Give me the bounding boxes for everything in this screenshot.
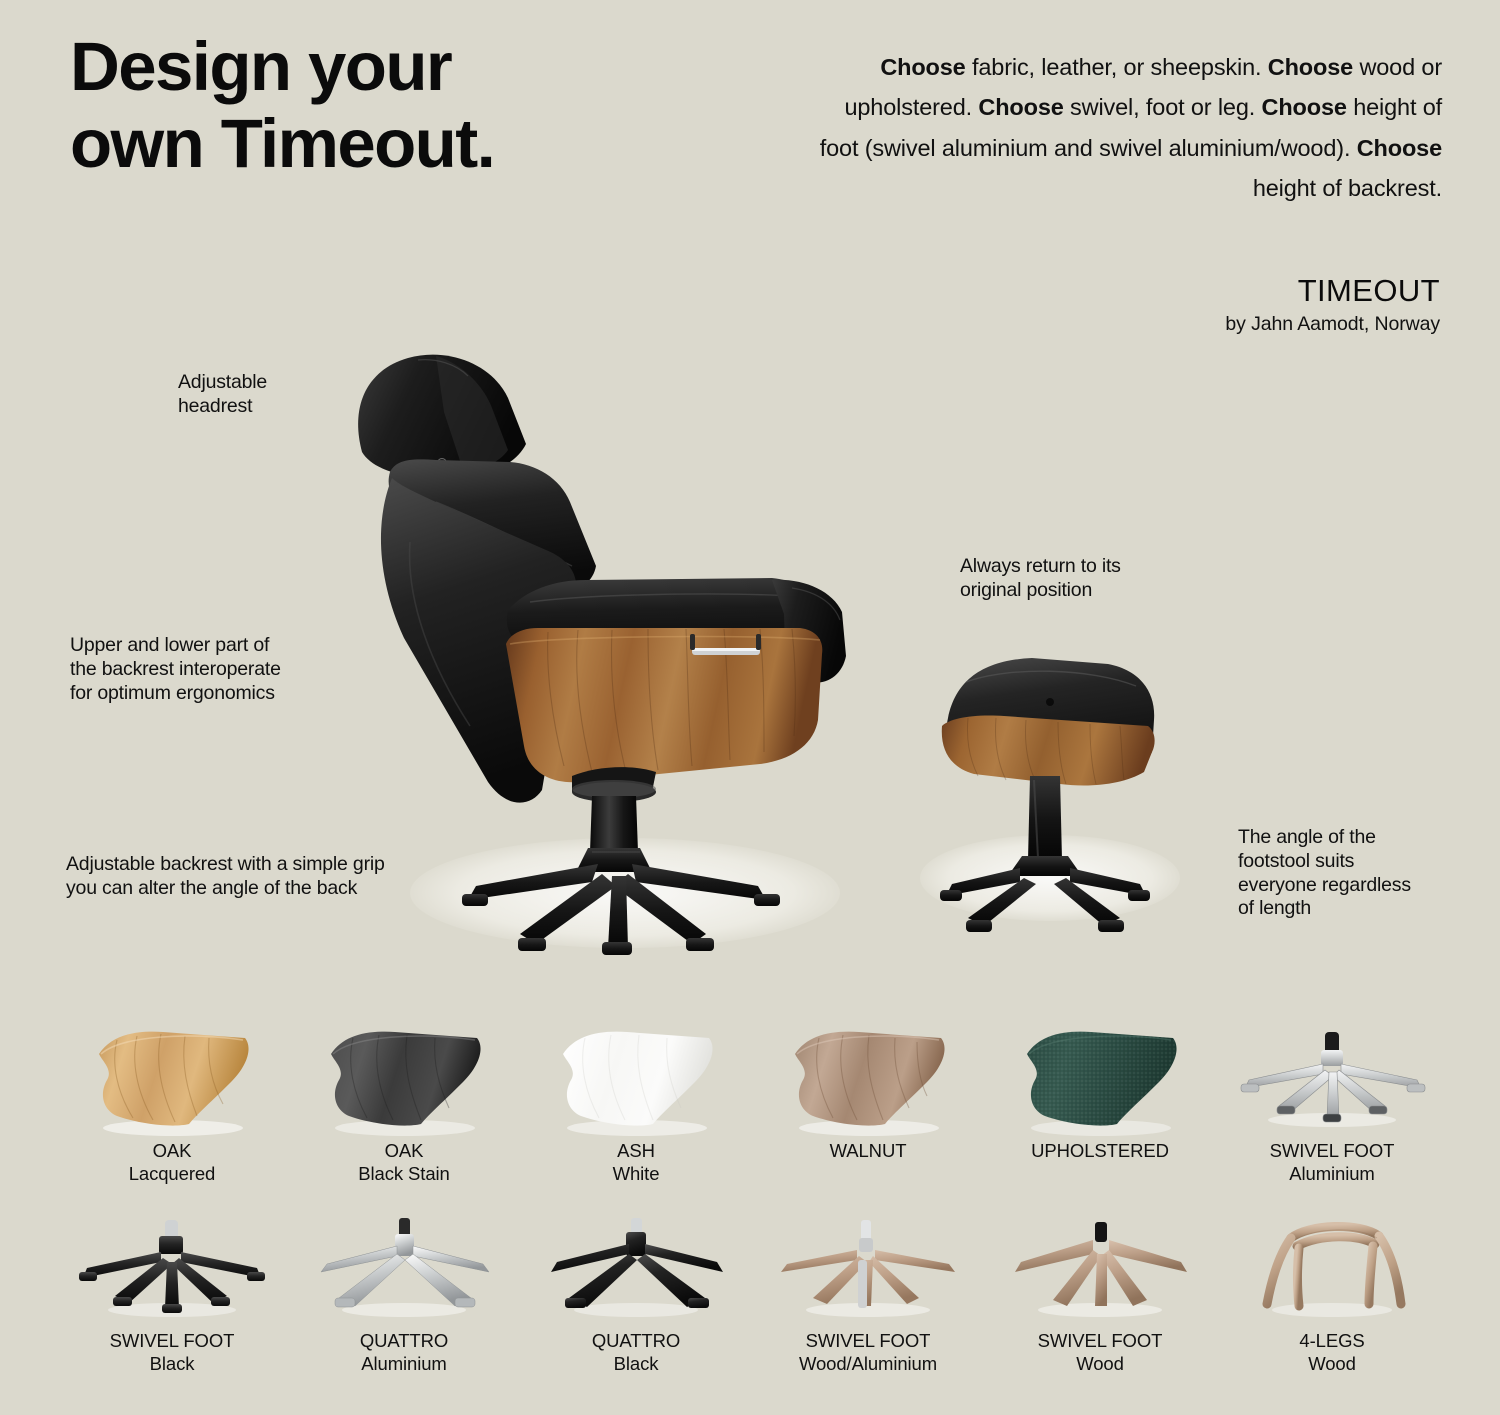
wood-sheet-icon xyxy=(288,1020,520,1138)
footstool-star-base xyxy=(940,856,1150,932)
swatch-label: QUATTRO Black xyxy=(592,1330,680,1375)
swatch-swivel-foot-wood[interactable]: SWIVEL FOOT Wood xyxy=(984,1210,1216,1400)
swatch-swivel-foot-black[interactable]: SWIVEL FOOT Black xyxy=(56,1210,288,1400)
four-legs-icon xyxy=(1216,1210,1448,1328)
fabric-sheet-icon xyxy=(984,1020,1216,1138)
material-and-base-options-grid: OAK Lacquered xyxy=(56,1020,1448,1400)
timeout-footstool xyxy=(912,648,1182,938)
swatch-title: SWIVEL FOOT xyxy=(110,1330,235,1351)
swatch-ash-white[interactable]: ASH White xyxy=(520,1020,752,1210)
swatch-swivel-foot-wood-aluminium[interactable]: SWIVEL FOOT Wood/Aluminium xyxy=(752,1210,984,1400)
swatch-title: ASH xyxy=(617,1140,655,1161)
swatch-title: SWIVEL FOOT xyxy=(806,1330,931,1351)
timeout-recliner-chair xyxy=(340,352,900,952)
swatch-four-legs-wood[interactable]: 4-LEGS Wood xyxy=(1216,1210,1448,1400)
quattro-base-icon xyxy=(288,1210,520,1328)
swatch-upholstered[interactable]: UPHOLSTERED xyxy=(984,1020,1216,1210)
swatch-label: OAK Lacquered xyxy=(129,1140,216,1185)
swatch-subtitle: White xyxy=(613,1163,660,1186)
footstool-column xyxy=(1028,776,1062,860)
chair-wood-shell xyxy=(506,628,822,782)
swatch-title: SWIVEL FOOT xyxy=(1270,1140,1395,1161)
star-base-5-icon xyxy=(56,1210,288,1328)
swatch-subtitle: Wood/Aluminium xyxy=(799,1353,937,1376)
swatch-title: OAK xyxy=(385,1140,424,1161)
star-base-5-icon xyxy=(1216,1020,1448,1138)
swatch-oak-lacquered[interactable]: OAK Lacquered xyxy=(56,1020,288,1210)
star-base-wood-icon xyxy=(752,1210,984,1328)
quattro-base-icon xyxy=(520,1210,752,1328)
star-base-wood-icon xyxy=(984,1210,1216,1328)
swatch-subtitle: Black xyxy=(110,1353,235,1376)
swatch-title: WALNUT xyxy=(830,1140,907,1161)
swatch-label: SWIVEL FOOT Black xyxy=(110,1330,235,1375)
swatch-swivel-foot-aluminium[interactable]: SWIVEL FOOT Aluminium xyxy=(1216,1020,1448,1210)
swatch-subtitle: Lacquered xyxy=(129,1163,216,1186)
chair-star-base xyxy=(462,848,780,955)
design-your-own-timeout-page: Design your own Timeout. Choose fabric, … xyxy=(0,0,1500,1415)
swatch-label: ASH White xyxy=(613,1140,660,1185)
swatch-title: OAK xyxy=(153,1140,192,1161)
footstool-button xyxy=(1046,698,1054,706)
wood-sheet-icon xyxy=(752,1020,984,1138)
swatch-title: QUATTRO xyxy=(360,1330,448,1351)
product-stage xyxy=(0,0,1500,1000)
swatch-subtitle: Wood xyxy=(1299,1353,1364,1376)
swatch-subtitle: Black xyxy=(592,1353,680,1376)
swatch-label: SWIVEL FOOT Wood xyxy=(1038,1330,1163,1375)
swatch-label: QUATTRO Aluminium xyxy=(360,1330,448,1375)
swatch-walnut[interactable]: WALNUT xyxy=(752,1020,984,1210)
swatch-label: WALNUT xyxy=(830,1140,907,1163)
wood-sheet-icon xyxy=(520,1020,752,1138)
swatch-subtitle: Aluminium xyxy=(1270,1163,1395,1186)
swatch-subtitle: Black Stain xyxy=(358,1163,449,1186)
swatch-title: SWIVEL FOOT xyxy=(1038,1330,1163,1351)
swatch-label: OAK Black Stain xyxy=(358,1140,449,1185)
swatch-title: 4-LEGS xyxy=(1299,1330,1364,1351)
swatch-label: SWIVEL FOOT Aluminium xyxy=(1270,1140,1395,1185)
swatch-oak-black-stain[interactable]: OAK Black Stain xyxy=(288,1020,520,1210)
wood-sheet-icon xyxy=(56,1020,288,1138)
swatch-label: SWIVEL FOOT Wood/Aluminium xyxy=(799,1330,937,1375)
chair-base-column xyxy=(590,796,638,852)
swatch-label: 4-LEGS Wood xyxy=(1299,1330,1364,1375)
swatch-quattro-black[interactable]: QUATTRO Black xyxy=(520,1210,752,1400)
swatch-title: QUATTRO xyxy=(592,1330,680,1351)
swatch-title: UPHOLSTERED xyxy=(1031,1140,1169,1161)
swatch-label: UPHOLSTERED xyxy=(1031,1140,1169,1163)
swatch-subtitle: Aluminium xyxy=(360,1353,448,1376)
swatch-subtitle: Wood xyxy=(1038,1353,1163,1376)
swatch-quattro-aluminium[interactable]: QUATTRO Aluminium xyxy=(288,1210,520,1400)
footstool-wood-band xyxy=(942,715,1155,785)
